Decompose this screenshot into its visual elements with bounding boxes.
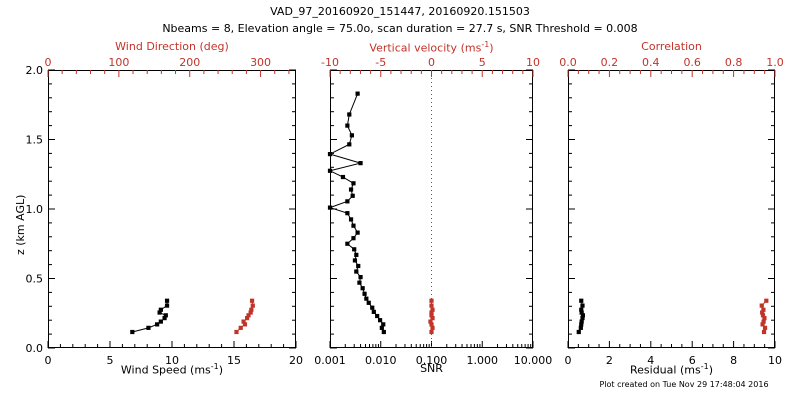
data-point — [239, 326, 243, 330]
data-point — [234, 330, 238, 334]
data-point — [372, 310, 376, 314]
x-tick-label: 1.0 — [766, 56, 784, 69]
y-tick-label: 0.0 — [26, 342, 44, 355]
data-point — [764, 299, 768, 303]
data-point — [761, 308, 765, 312]
y-tick-label: 1.0 — [26, 203, 44, 216]
data-point — [328, 152, 332, 156]
x-tick-label: -10 — [321, 56, 339, 69]
x-tick-label: 5 — [107, 354, 114, 367]
x-tick-label: 20 — [289, 354, 303, 367]
x-tick-label: 2 — [606, 354, 613, 367]
data-point — [429, 299, 433, 303]
data-point — [356, 92, 360, 96]
y-tick-label: 2.0 — [26, 64, 44, 77]
data-point — [165, 304, 169, 308]
data-point — [353, 258, 357, 262]
data-point — [351, 236, 355, 240]
data-point — [354, 253, 358, 257]
data-point — [250, 299, 254, 303]
x-tick-label: 8 — [730, 354, 737, 367]
data-point — [760, 304, 764, 308]
data-point — [351, 181, 355, 185]
x-tick-label: 0 — [45, 56, 52, 69]
data-point — [347, 112, 351, 116]
data-point — [249, 308, 253, 312]
x-tick-label: 6 — [689, 354, 696, 367]
data-point — [349, 187, 353, 191]
data-point — [378, 318, 382, 322]
x-tick-label: 15 — [227, 354, 241, 367]
data-point — [165, 299, 169, 303]
data-point — [251, 304, 255, 308]
x-tick-label: 10 — [165, 354, 179, 367]
x-tick-label: 300 — [250, 56, 271, 69]
x-tick-label: 0.2 — [601, 56, 619, 69]
data-point — [351, 224, 355, 228]
data-point — [349, 217, 353, 221]
x-tick-label: 1.000 — [467, 354, 499, 367]
data-point — [164, 313, 168, 317]
data-point — [352, 247, 356, 251]
data-point — [356, 264, 360, 268]
x-tick-label: 0.0 — [559, 56, 577, 69]
data-point — [146, 326, 150, 330]
data-point — [358, 161, 362, 165]
data-point — [357, 281, 361, 285]
x-tick-label: 0 — [428, 56, 435, 69]
data-point — [358, 275, 362, 279]
data-point — [130, 330, 134, 334]
x-tick-label: -5 — [375, 56, 386, 69]
x-tick-label: 0.4 — [642, 56, 660, 69]
data-point — [382, 330, 386, 334]
data-point — [429, 330, 433, 334]
x-tick-label: 4 — [647, 354, 654, 367]
data-point — [345, 199, 349, 203]
data-point — [430, 308, 434, 312]
x-tick-label: 10 — [526, 56, 540, 69]
x-tick-label: 0 — [45, 354, 52, 367]
data-point — [328, 206, 332, 210]
data-point — [370, 306, 374, 310]
x-tick-label: 10 — [768, 354, 782, 367]
x-tick-label: 0.100 — [416, 354, 448, 367]
data-point — [375, 314, 379, 318]
data-point — [577, 330, 581, 334]
data-point — [356, 231, 360, 235]
data-point — [580, 304, 584, 308]
data-point — [429, 304, 433, 308]
x-tick-label: 0 — [565, 354, 572, 367]
data-point — [347, 142, 351, 146]
x-tick-label: 0.8 — [725, 56, 743, 69]
data-point — [579, 299, 583, 303]
x-tick-label: 5 — [479, 56, 486, 69]
data-point — [361, 286, 365, 290]
data-point — [345, 242, 349, 246]
data-point — [579, 308, 583, 312]
data-point — [381, 322, 385, 326]
data-point — [354, 269, 358, 273]
data-point — [364, 297, 368, 301]
data-point — [362, 292, 366, 296]
data-point — [345, 211, 349, 215]
x-tick-label: 0.010 — [365, 354, 397, 367]
data-point — [351, 194, 355, 198]
series-line-snr — [330, 94, 384, 332]
x-tick-label: 0.001 — [314, 354, 346, 367]
data-point — [159, 319, 163, 323]
plot-overlay: 0.00.51.01.52.00510152001002003000.0010.… — [0, 0, 800, 400]
x-tick-label: 100 — [108, 56, 129, 69]
data-point — [328, 169, 332, 173]
data-point — [345, 124, 349, 128]
y-tick-label: 0.5 — [26, 273, 44, 286]
data-point — [762, 330, 766, 334]
data-point — [159, 308, 163, 312]
data-point — [350, 133, 354, 137]
x-tick-label: 0.6 — [683, 56, 701, 69]
data-point — [367, 301, 371, 305]
y-tick-label: 1.5 — [26, 134, 44, 147]
x-tick-label: 10.000 — [514, 354, 553, 367]
data-point — [155, 322, 159, 326]
data-point — [341, 175, 345, 179]
x-tick-label: 200 — [179, 56, 200, 69]
